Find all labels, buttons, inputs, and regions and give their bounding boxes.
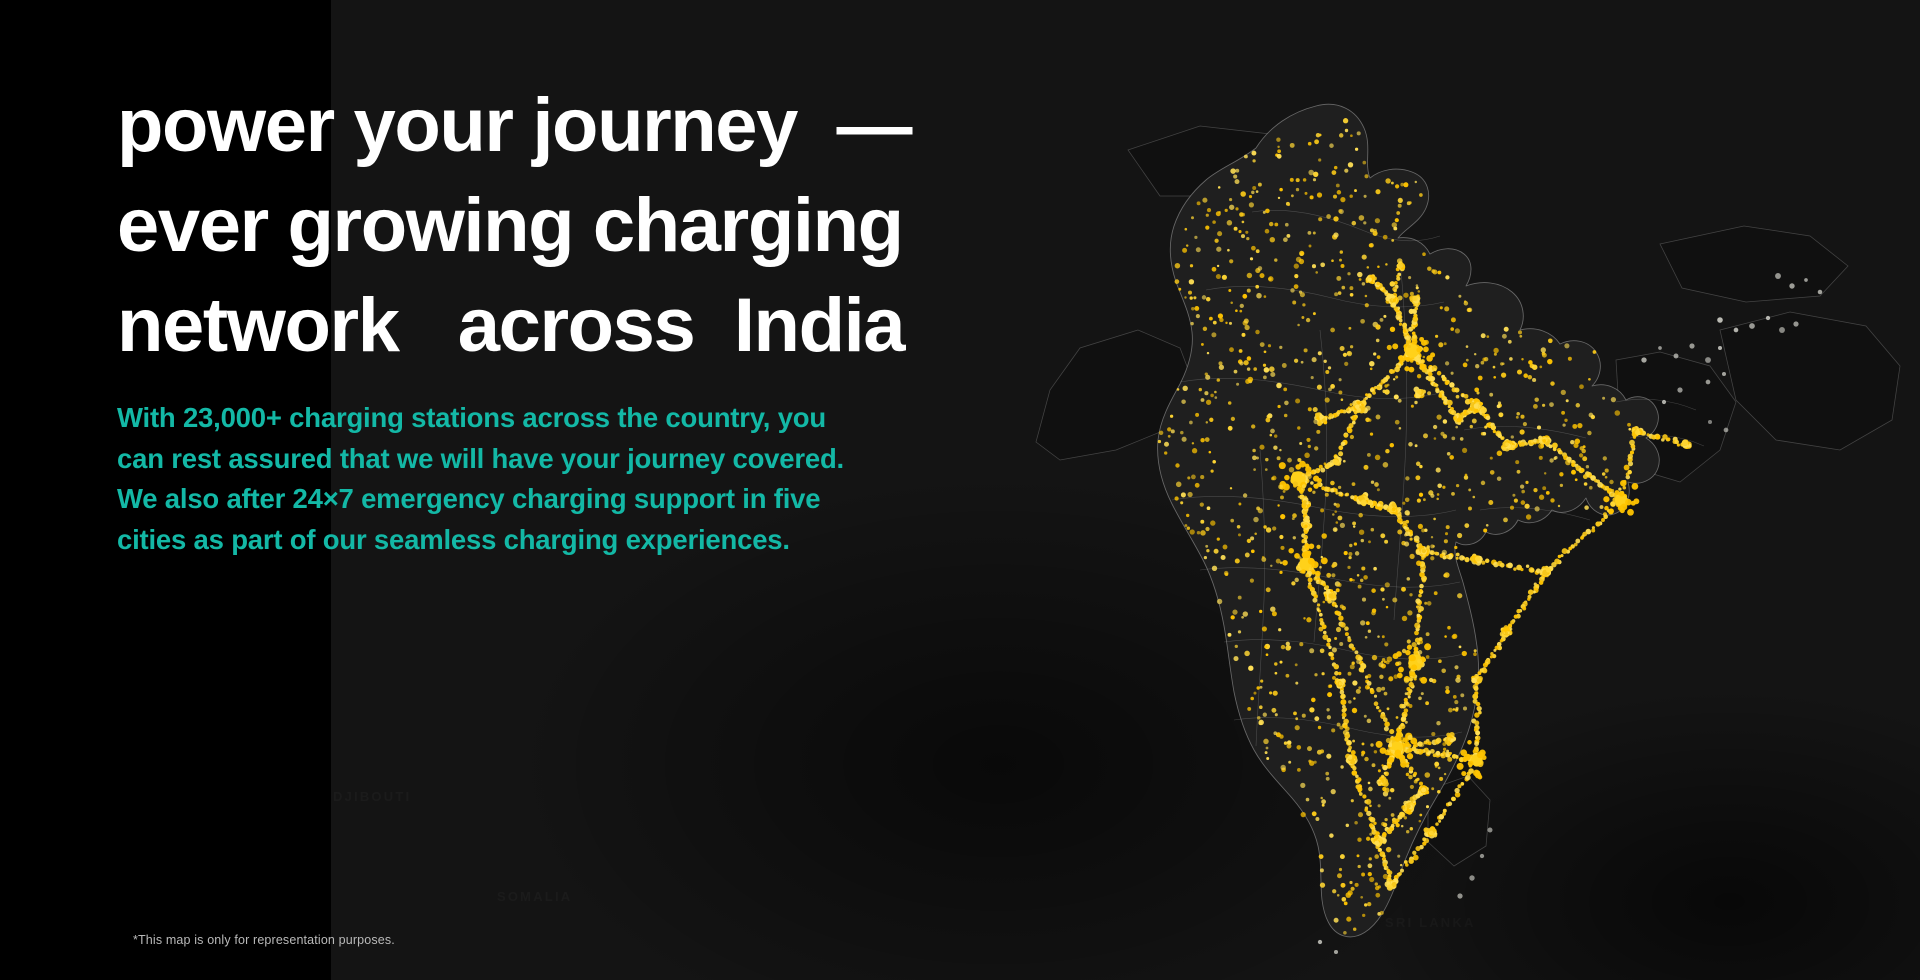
india-charging-map xyxy=(1020,30,1920,980)
map-disclaimer: *This map is only for representation pur… xyxy=(133,933,395,947)
hero-subcopy: With 23,000+ charging stations across th… xyxy=(117,398,1022,560)
page-title: power your journey — ever growing chargi… xyxy=(117,76,1047,376)
hero-text-column: power your journey — ever growing chargi… xyxy=(117,76,1047,560)
map-svg xyxy=(1020,30,1920,980)
hero-section: DJIBOUTISOMALIASRI LANKA xyxy=(0,0,1920,980)
